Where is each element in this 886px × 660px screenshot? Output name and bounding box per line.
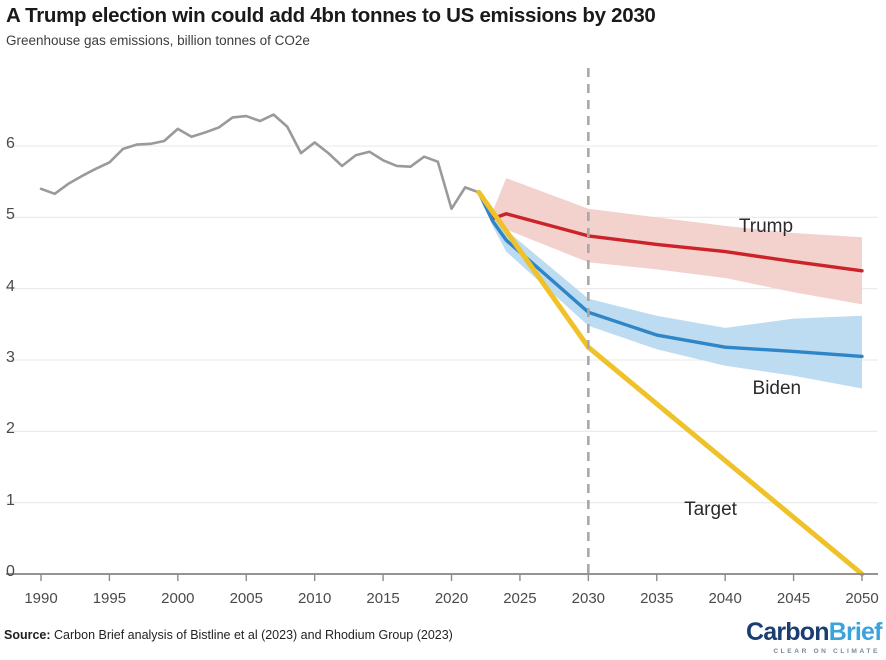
x-axis-tick-2025: 2025 xyxy=(490,590,550,607)
y-axis-tick-1: 1 xyxy=(6,492,36,510)
source-note: Source: Carbon Brief analysis of Bistlin… xyxy=(4,628,453,642)
source-text: Carbon Brief analysis of Bistline et al … xyxy=(51,628,453,642)
logo-word-brief: Brief xyxy=(829,618,882,646)
x-axis-tick-1990: 1990 xyxy=(11,590,71,607)
x-axis-tick-2020: 2020 xyxy=(422,590,482,607)
x-axis-tick-2000: 2000 xyxy=(148,590,208,607)
x-axis-tick-2005: 2005 xyxy=(216,590,276,607)
carbonbrief-logo[interactable]: CarbonBrief CLEAR ON CLIMATE xyxy=(746,620,880,656)
chart-subtitle: Greenhouse gas emissions, billion tonnes… xyxy=(6,33,866,49)
plot-area xyxy=(0,60,886,585)
y-axis-tick-4: 4 xyxy=(6,278,36,296)
series-label-target: Target xyxy=(684,499,737,521)
x-axis-tick-1995: 1995 xyxy=(79,590,139,607)
series-label-trump: Trump xyxy=(739,216,793,238)
y-axis-tick-2: 2 xyxy=(6,420,36,438)
y-axis-tick-0: 0 xyxy=(6,563,36,581)
uncertainty-bands xyxy=(479,178,862,388)
series-label-biden: Biden xyxy=(753,378,802,400)
y-axis-tick-5: 5 xyxy=(6,206,36,224)
x-axis-tick-2030: 2030 xyxy=(558,590,618,607)
x-axis-tick-2040: 2040 xyxy=(695,590,755,607)
x-axis-tick-2035: 2035 xyxy=(627,590,687,607)
y-axis-tick-6: 6 xyxy=(6,135,36,153)
page-title: A Trump election win could add 4bn tonne… xyxy=(6,4,866,28)
x-axis-tick-2045: 2045 xyxy=(764,590,824,607)
x-axis-tick-2015: 2015 xyxy=(353,590,413,607)
x-axis-tick-2050: 2050 xyxy=(832,590,886,607)
x-axis xyxy=(6,574,878,581)
chart-container: A Trump election win could add 4bn tonne… xyxy=(0,0,886,660)
logo-tagline: CLEAR ON CLIMATE xyxy=(746,648,880,655)
y-axis-tick-3: 3 xyxy=(6,349,36,367)
logo-word-carbon: Carbon xyxy=(746,618,829,646)
chart-svg xyxy=(0,60,886,585)
logo-wordmark: CarbonBrief xyxy=(746,620,880,645)
source-label: Source: xyxy=(4,628,51,642)
x-axis-tick-2010: 2010 xyxy=(285,590,345,607)
